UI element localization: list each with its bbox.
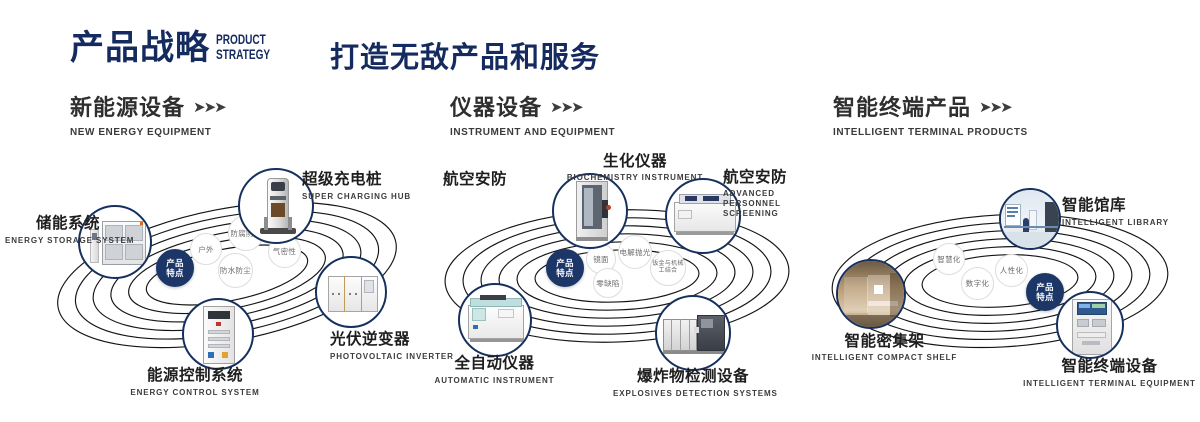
product-circle-explosives-detection[interactable] [655,295,731,371]
feature-bubble-outdoor: 户外 [190,233,222,265]
page-title-en: PRODUCT STRATEGY [216,32,270,62]
section-heading-intelligent-terminal: 智能终端产品➤➤➤ INTELLIGENT TERMINAL PRODUCTS [833,95,1038,138]
product-circle-pv-inverter[interactable] [315,256,387,328]
center-bubble-line2: 特点 [556,268,574,278]
center-bubble-product-features: 产品 特点 [546,249,584,287]
section-heading-new-energy: 新能源设备➤➤➤ NEW ENERGY EQUIPMENT [70,95,225,138]
product-circle-terminal-equipment[interactable] [1056,291,1124,359]
center-bubble-line1: 产品 [556,258,574,268]
product-label-en: INTELLIGENT COMPACT SHELF [792,353,977,363]
product-label-energy-storage: 储能系统 ENERGY STORAGE SYSTEM [5,215,100,246]
center-bubble-line1: 产品 [166,258,184,268]
automatic-analyzer-icon [460,285,530,355]
product-circle-intelligent-library[interactable] [999,188,1061,250]
product-label-cn: 生化仪器 [560,153,710,171]
page-title-en-line1: PRODUCT [216,32,270,47]
center-bubble-product-features: 产品 特点 [156,249,194,287]
product-label-en: EXPLOSIVES DETECTION SYSTEMS [613,388,773,399]
explosives-detector-icon [657,297,729,369]
product-circle-automatic-instrument[interactable] [458,283,532,357]
feature-bubble-text: 钣金与机械工结合 [651,261,685,276]
product-label-cn: 智能终端设备 [1022,358,1197,376]
product-label-explosives-detection: 爆炸物检测设备 EXPLOSIVES DETECTION SYSTEMS [613,368,773,399]
cluster-intelligent-terminal: 智慧化 数字化 人性化 产品 特点 智能馆库 INTELLIGENT LIBRA… [800,155,1200,390]
aviation-security-tag-left: 航空安防 [395,171,507,189]
product-label-intelligent-library: 智能馆库 INTELLIGENT LIBRARY [1062,197,1200,228]
library-room-icon [1001,190,1059,248]
product-label-automatic-instrument: 全自动仪器 AUTOMATIC INSTRUMENT [407,355,582,386]
feature-bubble-sheetmetal-machining: 钣金与机械工结合 [650,250,686,286]
cluster-new-energy: 产品 特点 户外 防腐防锈 气密性 防水防尘 储能系统 ENERGY STORA… [30,155,430,390]
product-label-compact-shelf: 智能密集架 INTELLIGENT COMPACT SHELF [792,333,977,363]
product-label-energy-control: 能源控制系统 ENERGY CONTROL SYSTEM [85,367,305,398]
control-cabinet-icon [184,300,252,368]
feature-bubble-intelligent: 智慧化 [933,243,965,275]
center-bubble-line1: 产品 [1036,282,1054,292]
section-heading-cn-text: 仪器设备 [450,95,542,120]
section-heading-cn: 仪器设备➤➤➤ [450,95,624,121]
product-label-cn: 智能密集架 [792,333,977,351]
feature-bubble-digital: 数字化 [961,267,994,300]
product-label-cn: 智能馆库 [1062,197,1200,215]
product-circle-compact-shelf[interactable] [836,259,906,329]
section-heading-instrument: 仪器设备➤➤➤ INSTRUMENT AND EQUIPMENT [450,95,624,138]
feature-bubble-zero-defect: 零缺陷 [593,268,623,298]
feature-bubble-humanized: 人性化 [995,254,1028,287]
product-label-en: AUTOMATIC INSTRUMENT [407,375,582,386]
section-heading-cn-text: 智能终端产品 [833,95,971,120]
aviation-security-tag-cn: 航空安防 [395,171,507,189]
product-circle-energy-control[interactable] [182,298,254,370]
chevron-right-triple-icon: ➤➤➤ [193,95,225,121]
section-heading-cn: 智能终端产品➤➤➤ [833,95,1038,121]
product-label-cn: 能源控制系统 [85,367,305,385]
product-label-cn: 爆炸物检测设备 [613,368,773,386]
page-header: 产品战略 PRODUCT STRATEGY 打造无敌产品和服务 [0,0,1200,88]
chevron-right-triple-icon: ➤➤➤ [979,95,1011,121]
section-heading-en: INSTRUMENT AND EQUIPMENT [450,126,615,138]
chevron-right-triple-icon: ➤➤➤ [550,95,582,121]
product-circle-biochemistry[interactable] [552,173,628,249]
section-heading-cn: 新能源设备➤➤➤ [70,95,225,121]
center-bubble-line2: 特点 [1036,292,1054,302]
center-bubble-line2: 特点 [166,268,184,278]
product-label-en: ENERGY CONTROL SYSTEM [85,387,305,398]
section-heading-cn-text: 新能源设备 [70,95,185,120]
page-slogan: 打造无敌产品和服务 [330,34,600,76]
page-title-en-line2: STRATEGY [216,47,270,62]
cluster-instrument: 产品 特点 镜面 电解抛光 钣金与机械工结合 零缺陷 航空安防 生化仪器 BIO… [415,155,815,390]
self-service-kiosk-icon [1058,293,1122,357]
product-label-terminal-equipment: 智能终端设备 INTELLIGENT TERMINAL EQUIPMENT [1022,358,1197,389]
section-heading-en: NEW ENERGY EQUIPMENT [70,126,217,138]
product-label-en: INTELLIGENT LIBRARY [1062,217,1200,228]
biochemistry-scanner-icon [554,175,626,247]
product-label-en: INTELLIGENT TERMINAL EQUIPMENT [1022,378,1197,389]
product-label-cn: 储能系统 [5,215,100,233]
inverter-cabinet-icon [317,258,385,326]
section-heading-en: INTELLIGENT TERMINAL PRODUCTS [833,126,1028,138]
compact-shelf-icon [838,261,904,327]
page-title: 产品战略 [70,28,210,68]
product-label-cn: 全自动仪器 [407,355,582,373]
product-label-biochemistry: 生化仪器 BIOCHEMISTRY INSTRUMENT [560,153,710,183]
product-label-en: ENERGY STORAGE SYSTEM [5,235,100,246]
feature-bubble-waterproof-dustproof: 防水防尘 [218,253,253,288]
